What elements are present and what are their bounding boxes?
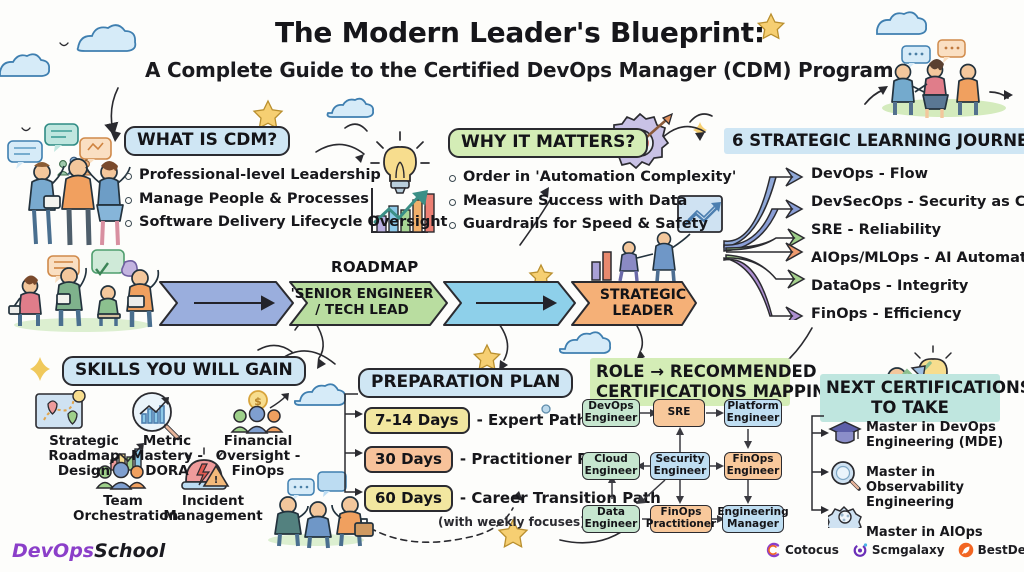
- partner-cotocus: Cotocus: [765, 542, 839, 558]
- footer-brand-logo: DevOpsSchool: [12, 540, 165, 562]
- scmgalaxy-orbit-icon: [852, 542, 868, 558]
- illustration-team-discussion: [8, 124, 130, 245]
- skill-label: IncidentManagement: [163, 494, 263, 524]
- section-next-certifications: NEXT CERTIFICATIONS TO TAKE: [820, 374, 1000, 422]
- list-item: Software Delivery Lifecycle Oversight: [124, 215, 447, 230]
- brand-prefix: DevOps: [12, 540, 94, 562]
- cert-label: Master in DevOpsEngineering (MDE): [866, 420, 1003, 450]
- preparation-badge: 30 Days: [364, 446, 453, 473]
- list-item: Manage People & Processes: [124, 192, 447, 207]
- section-what-is-cdm: WHAT IS CDM? Professional-level Leadersh…: [124, 126, 447, 239]
- journey-label: FinOps - Efficiency: [811, 306, 962, 322]
- section-why-it-matters: WHY IT MATTERS? Order in 'Automation Com…: [448, 128, 736, 241]
- role-node-finops-practitioner: FinOpsPractitioner: [650, 505, 712, 533]
- journey-label: AIOps/MLOps - AI Automation: [811, 250, 1024, 266]
- preparation-badge: 60 Days: [364, 485, 453, 512]
- journey-row: DevSecOps - Security as Code: [805, 188, 1024, 216]
- next-certifications-heading: NEXT CERTIFICATIONS TO TAKE: [820, 374, 1000, 422]
- skill-financial-oversight: FinancialOversight -FinOps: [208, 432, 308, 479]
- role-node-devops-engineer: DevOpsEngineer: [582, 399, 640, 427]
- cert-icons: [828, 418, 862, 528]
- what-is-cdm-heading: WHAT IS CDM?: [124, 126, 290, 156]
- finance-people-icon: $: [232, 391, 289, 433]
- why-it-matters-heading: WHY IT MATTERS?: [448, 128, 648, 158]
- journey-label: DevOps - Flow: [811, 166, 928, 182]
- role-mapping-heading-line1: ROLE → RECOMMENDED: [596, 362, 784, 382]
- page-title: The Modern Leader's Blueprint:: [275, 16, 765, 49]
- partner-bestdevops: BestDevOps: [958, 542, 1024, 558]
- preparation-plan-heading: PREPARATION PLAN: [358, 368, 573, 398]
- magnifier-icon: [832, 462, 859, 489]
- footer-partners: Cotocus Scmgalaxy BestDevOps: [765, 542, 1024, 558]
- preparation-text: - Expert Path: [477, 411, 588, 429]
- partner-name: BestDevOps: [978, 543, 1024, 557]
- journey-label: DataOps - Integrity: [811, 278, 968, 294]
- journey-row: SRE - Reliability: [805, 216, 1024, 244]
- list-item: Order in 'Automation Complexity': [448, 170, 736, 185]
- preparation-badge: 7-14 Days: [364, 407, 470, 434]
- cert-row: Master in DevOpsEngineering (MDE): [866, 418, 1024, 450]
- why-it-matters-list: Order in 'Automation Complexity' Measure…: [448, 170, 736, 232]
- skill-incident-management: IncidentManagement: [163, 492, 263, 524]
- map-icon: [36, 390, 85, 428]
- next-certifications-heading-line1: NEXT CERTIFICATIONS: [826, 378, 994, 398]
- gear-icon: [828, 507, 861, 528]
- journey-label: DevSecOps - Security as Code: [811, 194, 1024, 210]
- partner-scmgalaxy: Scmgalaxy: [852, 542, 945, 558]
- roadmap-step-strategic-leader: STRATEGICLEADER: [578, 287, 708, 319]
- partner-name: Cotocus: [785, 543, 839, 557]
- what-is-cdm-list: Professional-level Leadership Manage Peo…: [124, 168, 447, 230]
- skill-label: MetricMastery - DORA: [117, 434, 217, 479]
- journey-row: FinOps - Efficiency: [805, 300, 1024, 328]
- skill-label: FinancialOversight -FinOps: [208, 434, 308, 479]
- skills-heading: SKILLS YOU WILL GAIN: [62, 356, 306, 386]
- next-certifications-heading-line2: TO TAKE: [826, 398, 994, 418]
- skill-team-orchestration: TeamOrchestration: [73, 492, 173, 524]
- role-node-sre: SRE: [653, 399, 705, 427]
- brand-suffix: School: [94, 540, 165, 562]
- cotocus-c-icon: [765, 542, 781, 558]
- section-skills: SKILLS YOU WILL GAIN: [62, 356, 306, 386]
- cert-row: Master in AIOps: [866, 523, 1024, 540]
- journey-list: DevOps - Flow DevSecOps - Security as Co…: [805, 160, 1024, 328]
- cert-label: Master in ObservabilityEngineering: [866, 465, 1024, 510]
- skill-metric-mastery: MetricMastery - DORA: [117, 432, 217, 479]
- journey-row: DevOps - Flow: [805, 160, 1024, 188]
- next-certifications-list: Master in DevOpsEngineering (MDE) Master…: [866, 418, 1024, 547]
- skill-label: TeamOrchestration: [73, 494, 173, 524]
- cert-label: Master in AIOps: [866, 525, 983, 540]
- role-node-finops-engineer: FinOpsEngineer: [724, 452, 782, 480]
- illustration-classroom: [9, 250, 158, 332]
- section-preparation-plan: PREPARATION PLAN: [358, 368, 573, 398]
- role-node-platform-engineer: PlatformEngineer: [724, 399, 782, 427]
- roadmap-title: ROADMAP: [331, 258, 419, 276]
- learning-journeys-heading: 6 STRATEGIC LEARNING JOURNEYS: [724, 128, 1024, 154]
- role-node-data-engineer: DataEngineer: [582, 505, 640, 533]
- list-item: Measure Success with Data: [448, 194, 736, 209]
- page-subtitle: A Complete Guide to the Certified DevOps…: [145, 58, 893, 82]
- journey-label: SRE - Reliability: [811, 222, 941, 238]
- partner-name: Scmgalaxy: [872, 543, 945, 557]
- list-item: Guardrails for Speed & Safety: [448, 217, 736, 232]
- role-node-engineering-manager: EngineeringManager: [722, 505, 784, 533]
- graduation-cap-icon: [830, 422, 860, 443]
- section-learning-journeys: 6 STRATEGIC LEARNING JOURNEYS: [724, 128, 1024, 154]
- role-node-security-engineer: SecurityEngineer: [650, 452, 710, 480]
- list-item: Professional-level Leadership: [124, 168, 447, 183]
- role-node-cloud-engineer: CloudEngineer: [582, 452, 640, 480]
- journey-row: DataOps - Integrity: [805, 272, 1024, 300]
- journey-row: AIOps/MLOps - AI Automation: [805, 244, 1024, 272]
- roadmap-step-senior-engineer: 'SENIOR ENGINEER/ TECH LEAD: [288, 287, 436, 318]
- infographic-canvas: The Modern Leader's Blueprint: A Complet…: [0, 0, 1024, 572]
- cert-row: Master in ObservabilityEngineering: [866, 463, 1024, 510]
- bestdevops-rocket-icon: [958, 542, 974, 558]
